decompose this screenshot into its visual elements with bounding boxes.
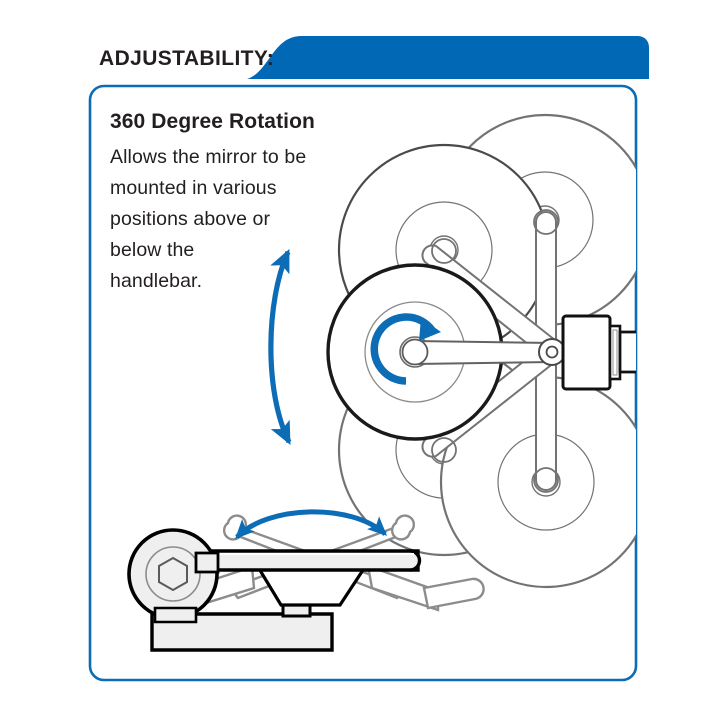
mirror-pivot-hub bbox=[539, 339, 565, 365]
header-banner bbox=[247, 36, 649, 79]
page-title: ADJUSTABILITY: bbox=[99, 47, 274, 70]
content-heading: 360 Degree Rotation bbox=[110, 110, 315, 133]
detail-neck bbox=[155, 608, 196, 622]
body-line-1: Allows the mirror to be bbox=[110, 146, 306, 168]
body-line-4: below the bbox=[110, 239, 194, 261]
mirror-arm-primary bbox=[403, 340, 553, 365]
illustration-canvas: ADJUSTABILITY: bbox=[0, 0, 720, 720]
body-line-3: positions above or bbox=[110, 208, 270, 230]
detail-hex-bolt bbox=[129, 530, 217, 618]
body-line-5: handlebar. bbox=[110, 270, 202, 292]
body-line-2: mounted in various bbox=[110, 177, 277, 199]
